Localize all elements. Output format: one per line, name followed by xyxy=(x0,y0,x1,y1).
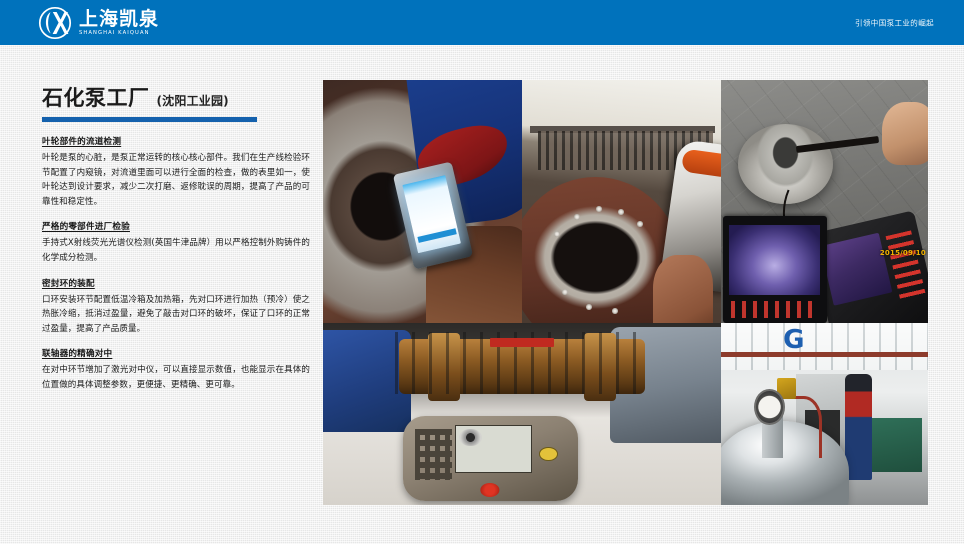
brand-logo[interactable]: 上海凯泉 SHANGHAI KAIQUAN xyxy=(38,6,159,40)
section-heading: 密封环的装配 xyxy=(42,277,310,291)
photo-timestamp: 2015/09/10 xyxy=(880,249,926,257)
page-title: 石化泵工厂 (沈阳工业园) xyxy=(42,82,310,112)
photo-impeller-borescope: 2015/09/10 xyxy=(721,80,928,323)
workshop-ceiling xyxy=(721,323,928,370)
inset-monitor-screen xyxy=(729,225,820,296)
section-heading: 严格的零部件进厂检验 xyxy=(42,220,310,234)
section-seal-ring-assembly: 密封环的装配 口环安装环节配置低温冷箱及加热箱，先对口环进行加热（预冷）使之热胀… xyxy=(42,277,310,337)
ceiling-pipe xyxy=(721,352,928,357)
photo-grid: 2015/09/10 G xyxy=(323,80,928,505)
photo-impeller-flange-tablet xyxy=(323,80,522,323)
tool-top-label xyxy=(490,338,554,347)
section-heading: 联轴器的精确对中 xyxy=(42,347,310,361)
borescope-screen xyxy=(820,233,892,306)
section-incoming-parts-inspection: 严格的零部件进厂检验 手持式X射线荧光光谱仪检测(英国牛津品牌）用以严格控制外购… xyxy=(42,220,310,265)
section-body: 口环安装环节配置低温冷箱及加热箱，先对口环进行加热（预冷）使之热胀冷缩，抵消过盈… xyxy=(42,293,310,337)
kaiquan-emblem-icon xyxy=(38,6,72,40)
operator-hand xyxy=(653,255,713,323)
photo-shaft-laser-alignment xyxy=(323,323,721,505)
section-coupling-alignment: 联轴器的精确对中 在对中环节增加了激光对中仪，可以直接显示数值，也能显示在具体的… xyxy=(42,347,310,392)
tool-power-button xyxy=(481,483,500,497)
page-title-main: 石化泵工厂 xyxy=(42,82,150,112)
section-body: 手持式X射线荧光光谱仪检测(英国牛津品牌）用以严格控制外购铸件的化学成分检测。 xyxy=(42,236,310,265)
brand-name-cn: 上海凯泉 xyxy=(79,9,159,29)
photo-image xyxy=(323,323,721,505)
photo-image xyxy=(323,80,522,323)
green-panel xyxy=(872,418,922,473)
workshop-zone-sign: G xyxy=(783,327,804,353)
laser-alignment-tool xyxy=(403,416,578,502)
header-slogan: 引领中国泵工业的崛起 xyxy=(855,17,934,28)
inset-monitor xyxy=(723,216,827,323)
brand-name-en: SHANGHAI KAIQUAN xyxy=(79,29,159,37)
section-flow-channel-inspection: 叶轮部件的流道检测 叶轮是泵的心脏，是泵正常运转的核心核心部件。我们在生产线检验… xyxy=(42,135,310,209)
section-heading: 叶轮部件的流道检测 xyxy=(42,135,310,149)
brand-text: 上海凯泉 SHANGHAI KAIQUAN xyxy=(79,6,159,40)
workshop-worker xyxy=(845,374,872,480)
tool-keypad xyxy=(415,429,452,480)
page-title-sub: (沈阳工业园) xyxy=(157,92,229,109)
tool-display-screen xyxy=(455,425,532,473)
tablet-screen xyxy=(402,175,461,253)
inset-monitor-buttons xyxy=(731,301,818,318)
title-underline-rule xyxy=(42,117,257,122)
section-body: 在对中环节增加了激光对中仪，可以直接显示数值，也能显示在具体的位置做的具体调整参… xyxy=(42,363,310,392)
tool-ok-button xyxy=(539,447,558,462)
photo-image: 2015/09/10 xyxy=(721,80,928,323)
photo-casing-xrf-analyser xyxy=(522,80,721,323)
left-content-column: 石化泵工厂 (沈阳工业园) 叶轮部件的流道检测 叶轮是泵的心脏，是泵正常运转的核… xyxy=(42,82,310,404)
operator-hand xyxy=(882,102,928,165)
photo-image xyxy=(522,80,721,323)
section-list: 叶轮部件的流道检测 叶轮是泵的心脏，是泵正常运转的核心核心部件。我们在生产线检验… xyxy=(42,135,310,393)
top-header-bar: 上海凯泉 SHANGHAI KAIQUAN 引领中国泵工业的崛起 xyxy=(0,0,964,45)
photo-image: G xyxy=(721,323,928,505)
borescope-keypad xyxy=(886,230,926,299)
section-body: 叶轮是泵的心脏，是泵正常运转的核心核心部件。我们在生产线检验环节配置了内窥镜，对… xyxy=(42,151,310,209)
pressure-gauge xyxy=(754,389,785,425)
photo-workshop-pressure-vessel: G xyxy=(721,323,928,505)
